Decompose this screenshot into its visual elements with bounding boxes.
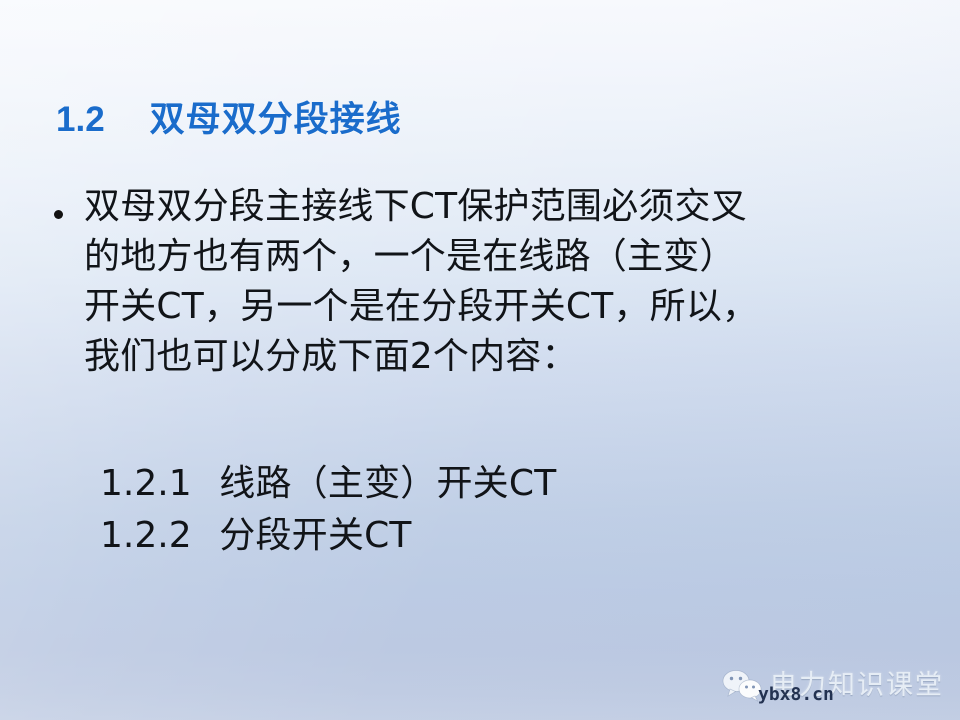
slide: 1.2 双母双分段接线 双母双分段主接线下CT保护范围必须交叉 的地方也有两个，… <box>0 0 960 720</box>
bullet-paragraph: 双母双分段主接线下CT保护范围必须交叉 的地方也有两个，一个是在线路（主变） 开… <box>54 182 924 382</box>
bullet-line: 开关CT，另一个是在分段开关CT，所以， <box>84 282 924 332</box>
list-item: 1.2.1 线路（主变）开关CT <box>100 458 556 510</box>
subitem-label: 线路（主变）开关CT <box>219 463 556 504</box>
subitem-label: 分段开关CT <box>219 515 411 556</box>
watermark-domain: ybx8.cn <box>758 684 834 705</box>
page-title: 1.2 双母双分段接线 <box>56 100 402 140</box>
bullet-line: 的地方也有两个，一个是在线路（主变） <box>84 232 924 282</box>
bullet-line: 我们也可以分成下面2个内容： <box>84 332 924 382</box>
subitem-number: 1.2.1 <box>100 463 192 504</box>
title-text: 双母双分段接线 <box>150 100 402 140</box>
title-number: 1.2 <box>56 100 105 140</box>
subitem-list: 1.2.1 线路（主变）开关CT 1.2.2 分段开关CT <box>100 458 556 562</box>
bullet-marker-icon <box>54 182 84 223</box>
watermark: 电力知识课堂 ybx8.cn <box>722 668 944 702</box>
slide-content: 1.2 双母双分段接线 双母双分段主接线下CT保护范围必须交叉 的地方也有两个，… <box>0 0 960 720</box>
subitem-number: 1.2.2 <box>100 515 192 556</box>
bullet-line: 双母双分段主接线下CT保护范围必须交叉 <box>84 182 924 232</box>
bullet-text: 双母双分段主接线下CT保护范围必须交叉 的地方也有两个，一个是在线路（主变） 开… <box>84 182 924 382</box>
list-item: 1.2.2 分段开关CT <box>100 510 556 562</box>
